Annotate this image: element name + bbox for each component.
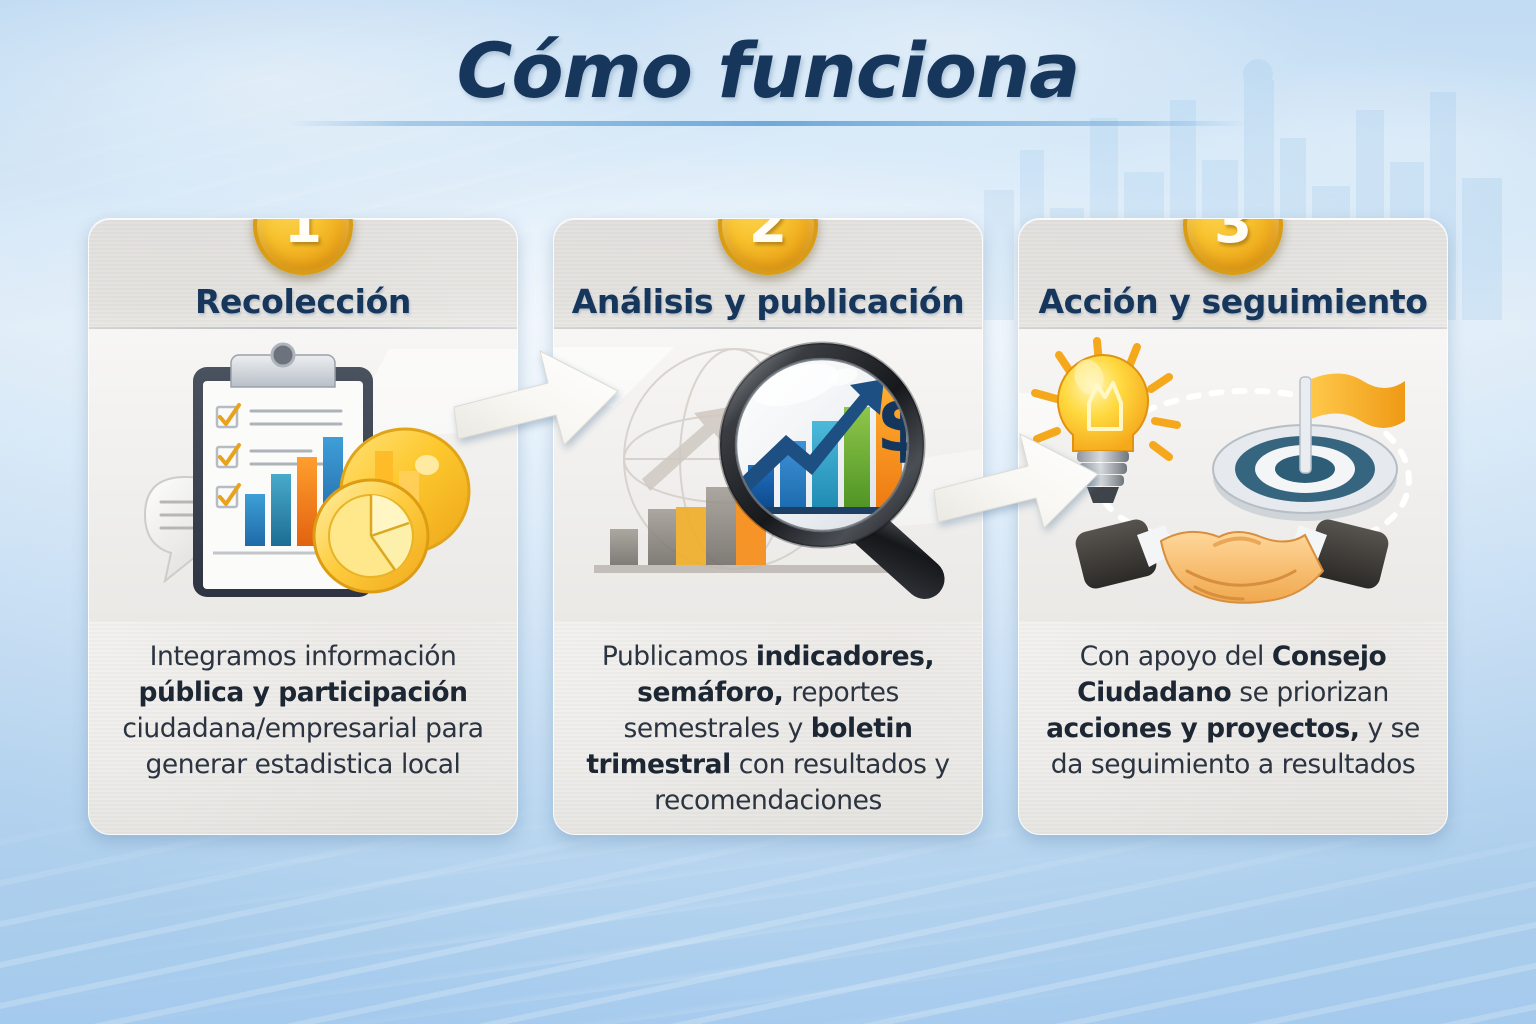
page-title: Cómo funciona: [0, 26, 1536, 115]
step-body-segment-bold: semáforo,: [637, 677, 783, 708]
title-divider: [288, 121, 1248, 126]
step-body-segment: ciudadana/empresarial para generar estad…: [122, 713, 483, 780]
step-body-segment-bold: indicadores,: [756, 641, 934, 672]
step-illustration-3: [1019, 329, 1447, 621]
step-body-segment: Publicamos: [602, 641, 756, 672]
step-illustration-2: $: [554, 329, 982, 621]
step-number-1: 1: [284, 218, 322, 251]
step-body-segment: Integramos información: [150, 641, 457, 672]
step-number-2: 2: [749, 218, 787, 251]
infographic-canvas: Cómo funciona: [0, 0, 1536, 1024]
step-title-3: Acción y seguimiento: [1038, 282, 1427, 321]
step-title-2: Análisis y publicación: [572, 282, 964, 321]
step-body-segment: se priorizan: [1231, 677, 1389, 708]
step-number-3: 3: [1214, 218, 1252, 251]
step-body-1: Integramos información pública y partici…: [89, 621, 517, 783]
steps-row: 1 Recolección: [88, 218, 1448, 833]
step-body-2: Publicamos indicadores, semáforo, report…: [554, 621, 982, 819]
step-card-recoleccion[interactable]: 1 Recolección: [88, 218, 518, 835]
step-body-segment: Con apoyo del: [1080, 641, 1272, 672]
step-card-accion-seguimiento[interactable]: 3 Acción y seguimiento: [1018, 218, 1448, 835]
step-body-segment-bold: pública y participación: [138, 677, 467, 708]
step-card-analisis-publicacion[interactable]: 2 Análisis y publicación: [553, 218, 983, 835]
step-body-segment-bold: acciones y proyectos,: [1046, 713, 1359, 744]
step-illustration-1: [89, 329, 517, 621]
step-title-1: Recolección: [195, 282, 411, 321]
step-body-3: Con apoyo del Consejo Ciudadano se prior…: [1019, 621, 1447, 783]
